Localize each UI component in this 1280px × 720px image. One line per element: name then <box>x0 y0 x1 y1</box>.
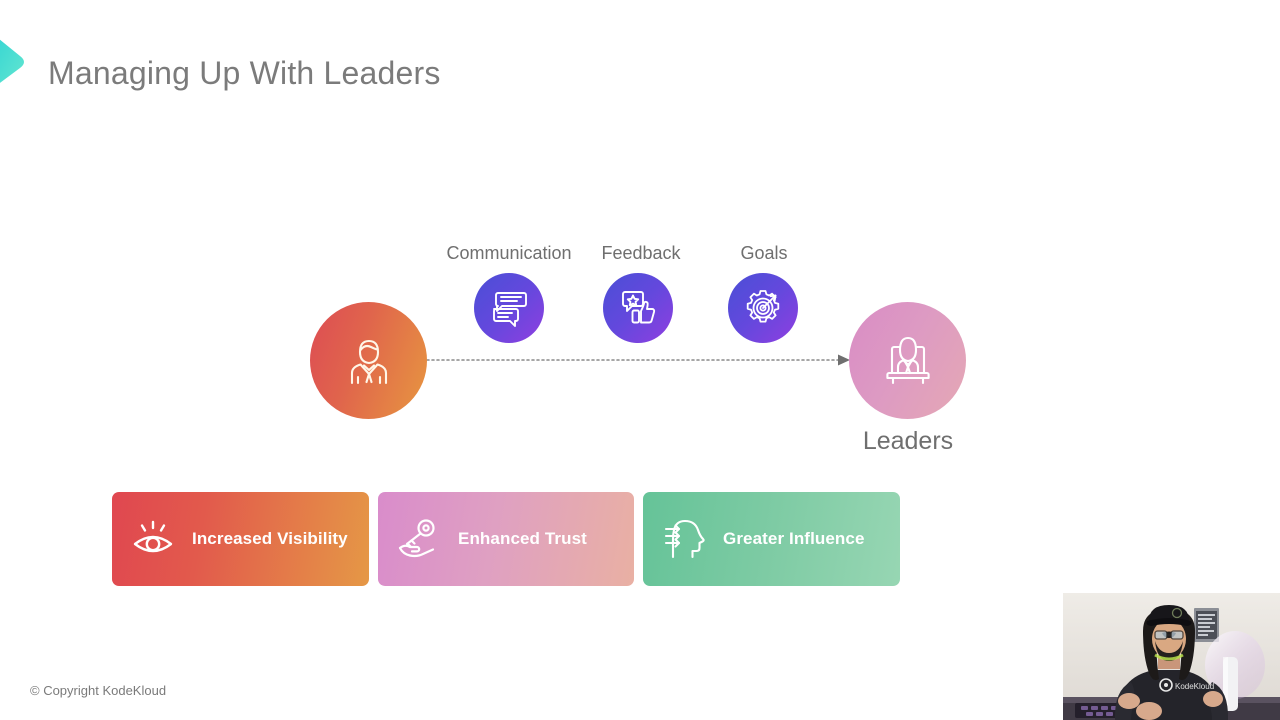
benefit-card-label: Increased Visibility <box>192 529 348 549</box>
benefit-card-increased-visibility[interactable]: Increased Visibility <box>112 492 369 586</box>
chat-bubbles-icon <box>488 287 530 329</box>
benefit-card-label: Greater Influence <box>723 529 865 549</box>
hand-key-icon <box>396 516 442 562</box>
step-label-feedback: Feedback <box>601 243 680 264</box>
gear-target-arrow-icon <box>742 287 784 329</box>
copyright-text: © Copyright KodeKloud <box>30 683 166 698</box>
target-node-label: Leaders <box>863 427 953 456</box>
slide-canvas: Managing Up With Leaders <box>0 0 1280 720</box>
head-arrows-icon <box>661 516 707 562</box>
step-label-communication: Communication <box>446 243 571 264</box>
businessman-icon <box>338 330 400 392</box>
page-title: Managing Up With Leaders <box>48 55 441 92</box>
step-node-goals <box>728 273 798 343</box>
step-label-goals: Goals <box>740 243 787 264</box>
step-node-feedback <box>603 273 673 343</box>
presenter-webcam-overlay[interactable]: KodeKloud <box>1063 593 1280 720</box>
source-node-circle <box>310 302 427 419</box>
benefit-card-greater-influence[interactable]: Greater Influence <box>643 492 900 586</box>
svg-text:KodeKloud: KodeKloud <box>1175 682 1214 691</box>
chevron-right-logo-icon <box>0 6 42 112</box>
benefit-card-enhanced-trust[interactable]: Enhanced Trust <box>378 492 634 586</box>
step-node-communication <box>474 273 544 343</box>
speaker-podium-icon <box>873 326 943 396</box>
eye-rays-icon <box>130 516 176 562</box>
target-node-circle <box>849 302 966 419</box>
thumbs-up-star-icon <box>617 287 659 329</box>
benefit-card-label: Enhanced Trust <box>458 529 587 549</box>
